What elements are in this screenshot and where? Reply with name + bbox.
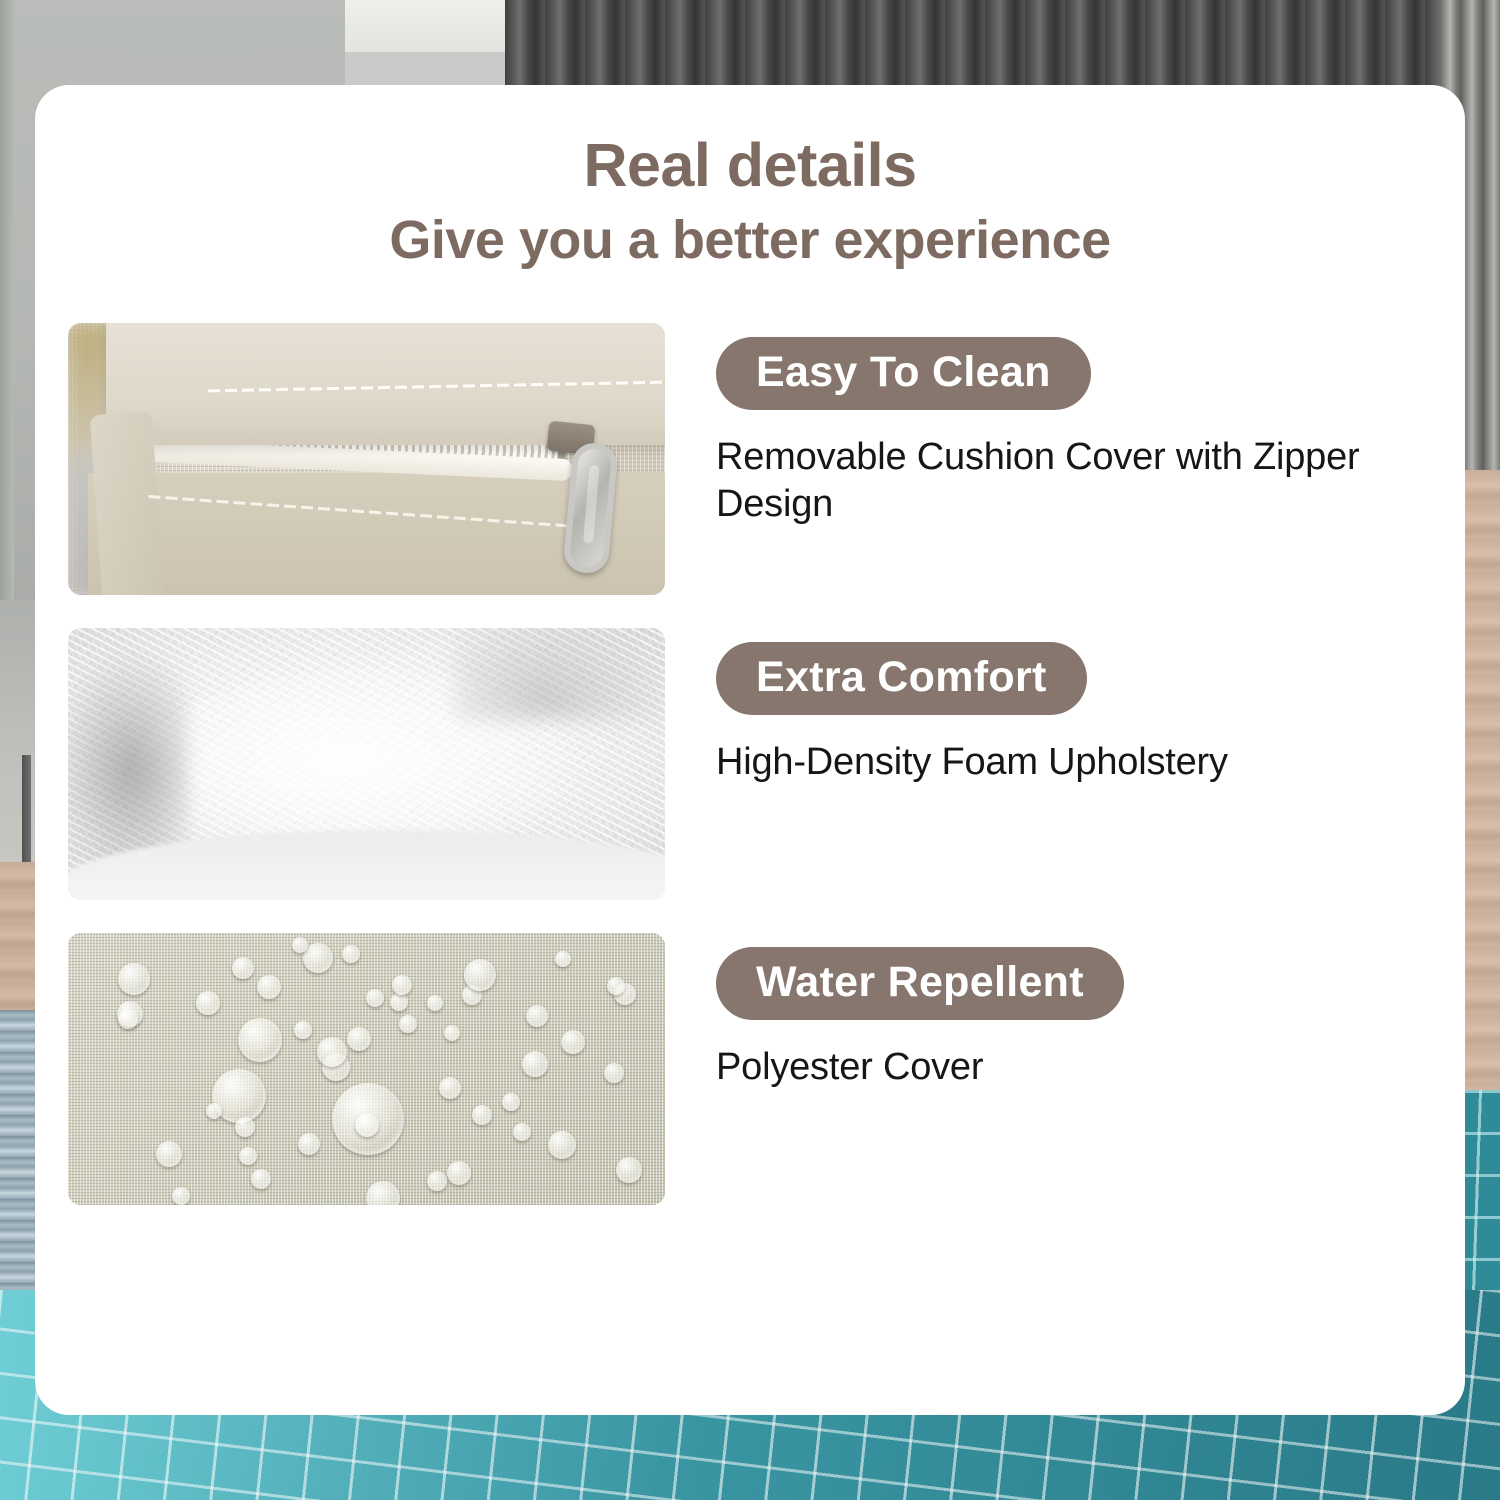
feature-text-block: Water Repellent Polyester Cover [665, 933, 1124, 1092]
water-droplet [239, 1147, 257, 1165]
water-droplet [607, 977, 625, 995]
water-droplet [472, 1105, 492, 1125]
water-droplet [513, 1123, 531, 1141]
fabric-weave-texture [68, 933, 665, 1205]
feature-description: Polyester Cover [716, 1044, 1124, 1092]
water-droplet [347, 1027, 371, 1051]
water-droplet [548, 1131, 576, 1159]
water-droplet [294, 1021, 312, 1039]
water-droplet [522, 1051, 548, 1077]
feature-row-water-repellent: Water Repellent Polyester Cover [35, 933, 1465, 1205]
water-droplet [206, 1103, 222, 1119]
water-repellent-photo [68, 933, 665, 1205]
water-droplet [427, 1171, 447, 1191]
background-curtain-top [505, 0, 1500, 95]
status-badge: Water Repellent [716, 947, 1124, 1020]
water-droplet [156, 1141, 182, 1167]
heading-block: Real details Give you a better experienc… [35, 85, 1465, 275]
water-droplet [196, 991, 220, 1015]
feature-list: Easy To Clean Removable Cushion Cover wi… [35, 323, 1465, 1205]
water-droplet [238, 1018, 282, 1062]
fiberfill-photo [68, 628, 665, 900]
water-droplet [118, 1009, 138, 1029]
water-droplet [232, 957, 254, 979]
status-badge: Easy To Clean [716, 337, 1091, 410]
water-droplet [444, 1025, 460, 1041]
feature-row-easy-to-clean: Easy To Clean Removable Cushion Cover wi… [35, 323, 1465, 595]
fiberfill-shadow-top-right [455, 628, 665, 720]
water-droplet [235, 1117, 255, 1137]
water-droplet [616, 1157, 642, 1183]
feature-row-extra-comfort: Extra Comfort High-Density Foam Upholste… [35, 628, 1465, 900]
water-droplet [464, 959, 496, 991]
water-droplet [502, 1093, 520, 1111]
status-badge: Extra Comfort [716, 642, 1087, 715]
water-droplet [561, 1030, 585, 1054]
water-droplet [366, 989, 384, 1007]
water-droplet [355, 1113, 379, 1137]
background-post [22, 755, 31, 870]
cushion-zipper-photo [68, 323, 665, 595]
feature-description: High-Density Foam Upholstery [716, 739, 1228, 787]
water-droplet [392, 975, 412, 995]
water-droplet [298, 1133, 320, 1155]
water-droplet [172, 1187, 190, 1205]
water-droplet [251, 1169, 271, 1189]
background-panel-top [345, 0, 505, 52]
water-droplet [439, 1077, 461, 1099]
water-droplet [118, 963, 150, 995]
water-droplet [427, 995, 443, 1011]
feature-text-block: Easy To Clean Removable Cushion Cover wi… [665, 323, 1465, 529]
feature-description: Removable Cushion Cover with Zipper Desi… [716, 434, 1465, 529]
water-droplet [390, 993, 408, 1011]
water-droplet [257, 975, 281, 999]
feature-text-block: Extra Comfort High-Density Foam Upholste… [665, 628, 1228, 787]
water-droplet [317, 1037, 347, 1067]
water-droplet [526, 1005, 548, 1027]
water-droplet [342, 945, 360, 963]
cushion-corner-fold [90, 411, 165, 595]
content-card: Real details Give you a better experienc… [35, 85, 1465, 1415]
page-title: Real details [35, 133, 1465, 197]
water-droplet [292, 937, 308, 953]
water-droplet [447, 1161, 471, 1185]
water-droplet [555, 951, 571, 967]
water-droplet [399, 1015, 417, 1033]
water-droplet [604, 1063, 624, 1083]
page-subtitle: Give you a better experience [35, 207, 1465, 275]
